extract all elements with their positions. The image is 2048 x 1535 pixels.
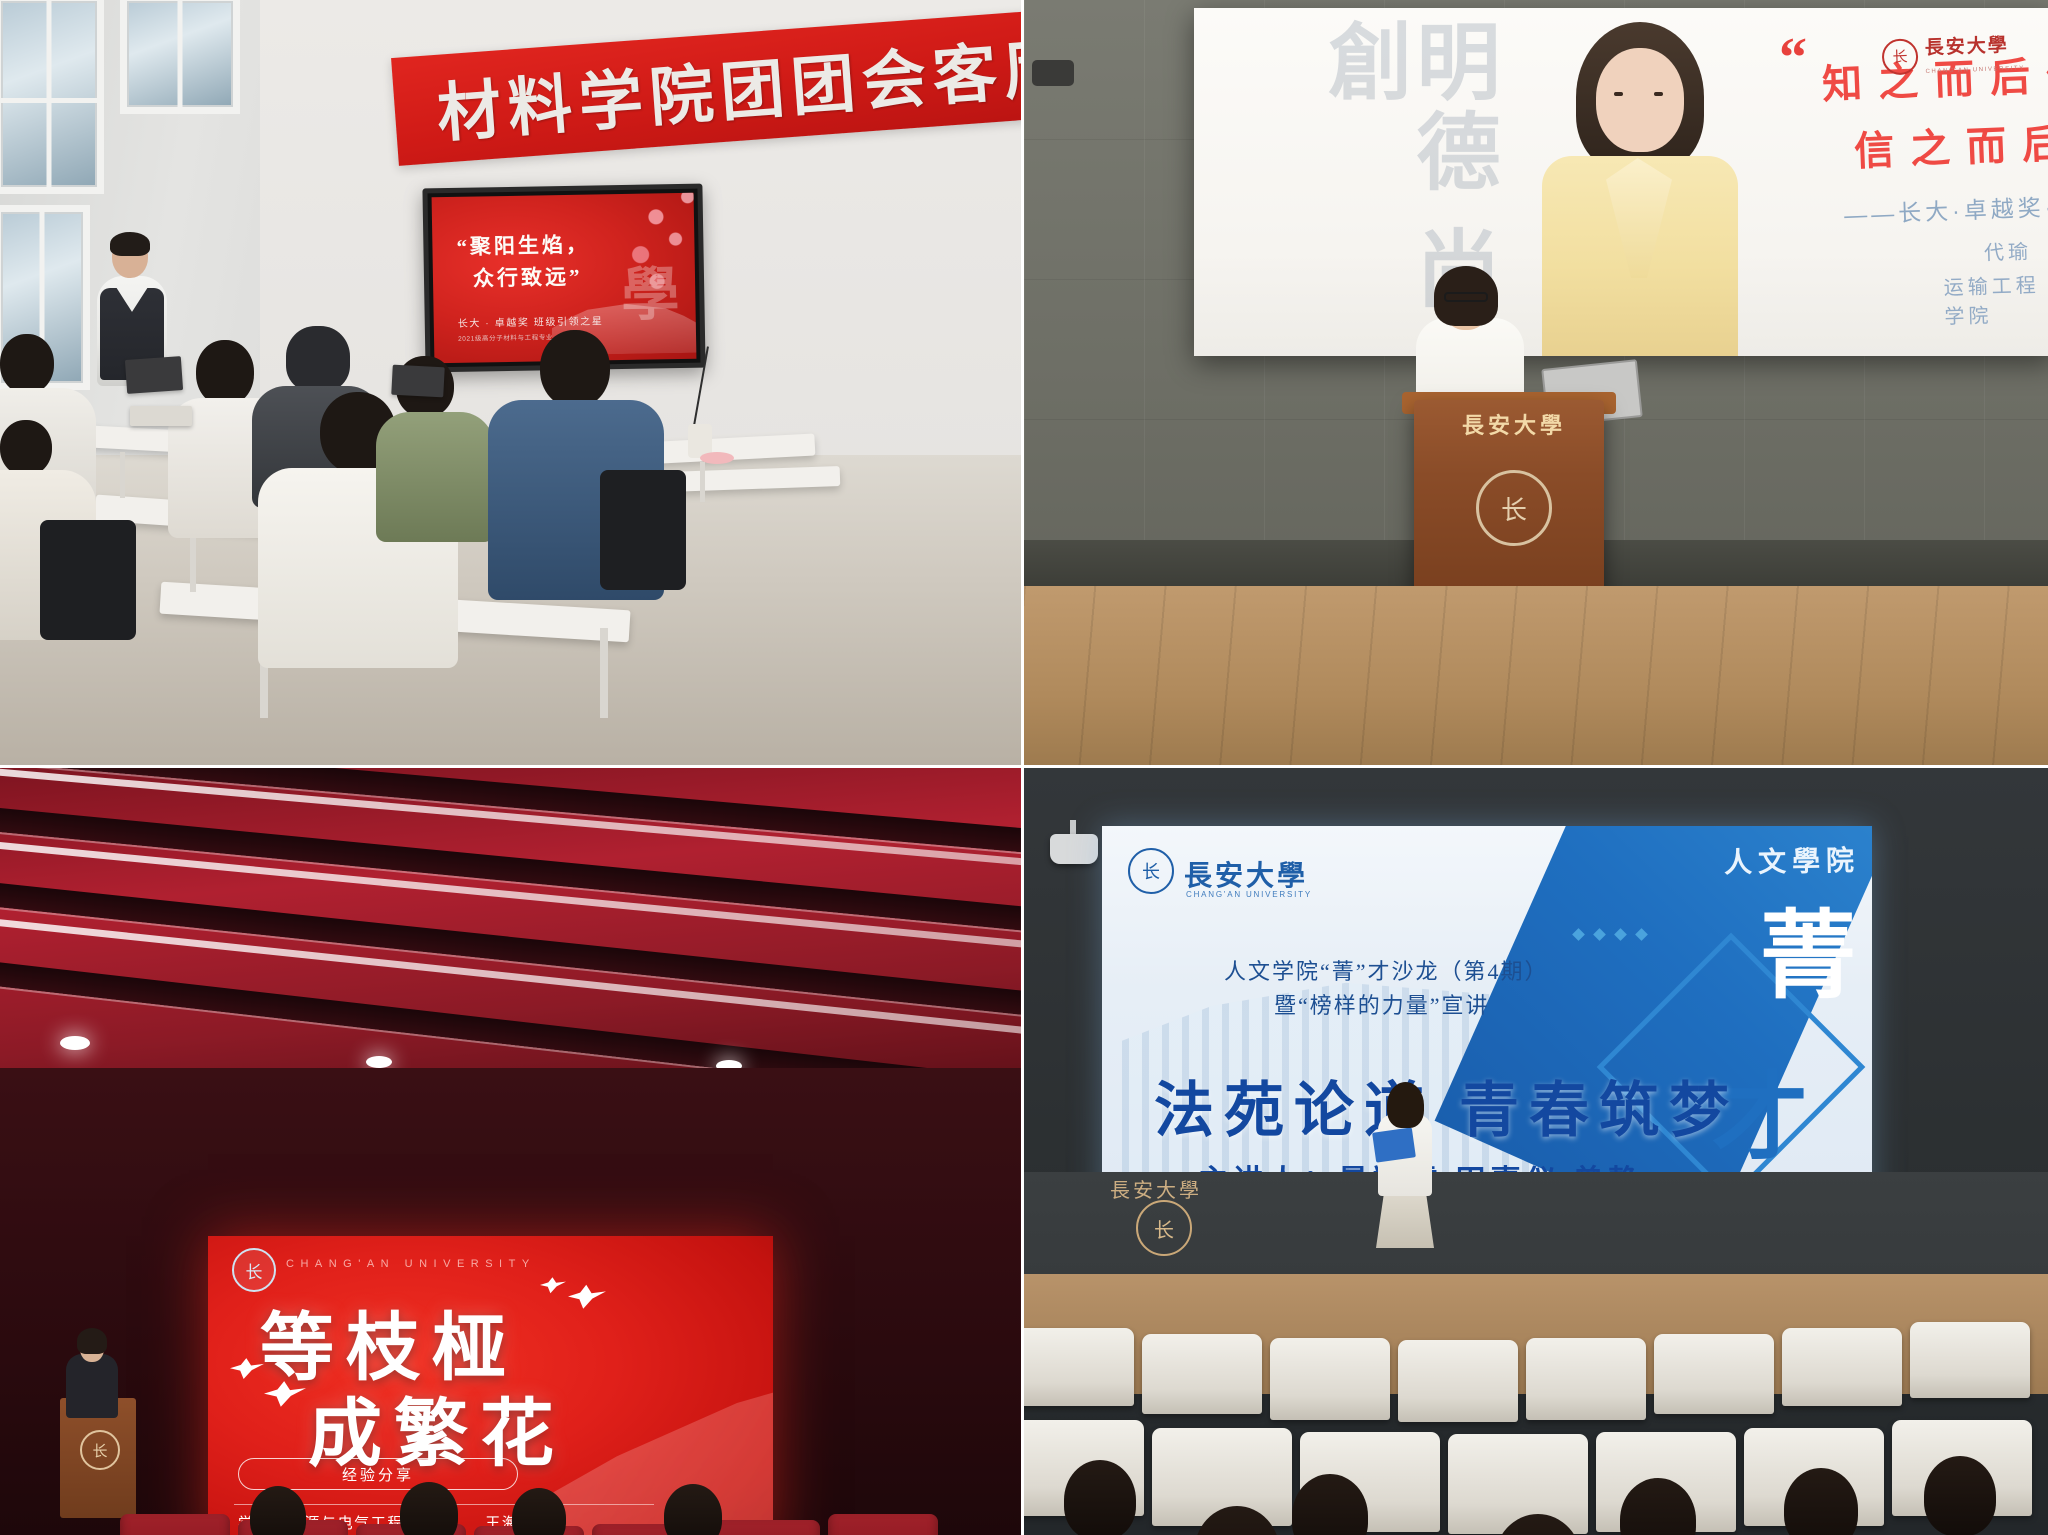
stage-seal-icon: 长: [1136, 1200, 1192, 1256]
university-seal-icon: 长: [1881, 38, 1918, 75]
desk-leg: [120, 452, 125, 498]
desk-leg: [700, 462, 705, 502]
desk-leg: [600, 628, 608, 718]
decorative-character: 學: [620, 247, 679, 332]
projection-screen: 明德 尚 創 “ 知之而后信之 信之而后行之” ——长大·卓越奖·求真之星 代瑜…: [1194, 8, 2048, 356]
slide-quote-line2: 众行致远”: [473, 261, 583, 293]
award-attribution: ——长大·卓越奖·求真之星: [1843, 184, 2048, 230]
window: [0, 0, 104, 194]
reader-hair: [1387, 1082, 1424, 1128]
slide-footnote: 2021级高分子材料与工程专业: [458, 331, 553, 343]
university-logo-text: 長安大學: [1924, 35, 2009, 59]
speaker-department: 运输工程学院: [1943, 268, 2048, 329]
photo-collage: 材料学院团团会客厅 學 “聚阳生焰， 众行致远” 长大 · 卓越奖 班级引领之星…: [0, 0, 2048, 1535]
panel-materials-college-salon: 材料学院团团会客厅 學 “聚阳生焰， 众行致远” 长大 · 卓越奖 班级引领之星…: [0, 0, 1024, 768]
quote-mark: “: [1779, 26, 1807, 90]
university-seal-icon: 长: [232, 1248, 276, 1292]
portrait-face: [1596, 48, 1684, 152]
calligraphy-line-2: 信之而后行之”: [1853, 105, 2048, 177]
reader-skirt: [1376, 1192, 1434, 1248]
university-logo-subtext: CHANG'AN UNIVERSITY: [1186, 890, 1312, 899]
speaker-name: 代瑜: [1984, 235, 2033, 265]
audience-seating: [0, 1528, 1021, 1535]
ceiling-light: [60, 1036, 90, 1050]
audience-head: [1064, 1460, 1136, 1535]
speaker-box: [1032, 60, 1074, 86]
laptop: [125, 356, 183, 394]
university-logo-subtext: CHANG'AN UNIVERSITY: [1925, 66, 2024, 75]
slide-subtitle: 长大 · 卓越奖 班级引领之星: [458, 312, 604, 330]
dove-icon: [568, 1280, 606, 1310]
chair: [40, 520, 136, 640]
speaker-body: [66, 1354, 118, 1418]
audience-seating: [1024, 1328, 2048, 1535]
decorative-char-jing: 菁: [1760, 878, 1856, 1017]
university-logo-text: 長安大學: [1184, 854, 1308, 894]
chair: [600, 470, 686, 590]
speaker-hair: [77, 1328, 107, 1354]
laptop-base: [130, 406, 192, 426]
laptop: [391, 365, 444, 398]
auditorium-ceiling: [0, 768, 1021, 1088]
slide-quote-line1: “聚阳生焰，: [456, 229, 590, 261]
wood-floor: [1024, 586, 2048, 768]
presenter-hair: [110, 232, 150, 256]
podium-text: 長安大學: [1439, 408, 1589, 440]
dove-icon: [540, 1274, 566, 1294]
floor-plank-lines: [1024, 586, 2048, 768]
window: [120, 0, 240, 114]
stage-university-text: 長安大學: [1110, 1174, 1202, 1203]
ceiling-light: [366, 1056, 392, 1068]
pink-coaster: [700, 452, 734, 464]
panel-energy-electrical-experience-share: 长 CHANG'AN UNIVERSITY 等枝桠 成繁花 经验分享 学院：能源…: [0, 768, 1024, 1535]
audience-head: [1924, 1456, 1996, 1535]
college-banner-label: 人文學院: [1724, 839, 1861, 881]
slide-subtitle-line2: 暨“榜样的力量”宣讲: [1274, 988, 1490, 1020]
university-logo: 长 長安大學 CHANG'AN UNIVERSITY: [1881, 30, 2025, 80]
university-english-name: CHANG'AN UNIVERSITY: [286, 1258, 536, 1270]
reader-book: [1372, 1127, 1416, 1162]
dove-icon: [230, 1354, 264, 1380]
cctv-camera-icon: [1050, 834, 1098, 864]
podium-seal-icon: 长: [1476, 470, 1552, 546]
podium-seal-icon: 长: [80, 1430, 120, 1470]
award-winner-portrait: [1514, 8, 1764, 356]
panel-humanities-college-salon: 菁 才 人文學院 长 長安大學 CHANG'AN UNIVERSITY 人文学院…: [1024, 768, 2048, 1535]
glasses-icon: [1444, 292, 1488, 302]
panel-transport-college-award-talk: 明德 尚 創 “ 知之而后信之 信之而后行之” ——长大·卓越奖·求真之星 代瑜…: [1024, 0, 2048, 768]
slide-main-title: 法苑论道 青春筑梦: [1154, 1062, 1739, 1149]
desk-leg: [190, 532, 196, 592]
university-seal-icon: 长: [1128, 848, 1174, 894]
diamond-divider: [1574, 930, 1646, 939]
slide-subtitle-line1: 人文学院“菁”才沙龙（第4期）: [1224, 954, 1549, 986]
